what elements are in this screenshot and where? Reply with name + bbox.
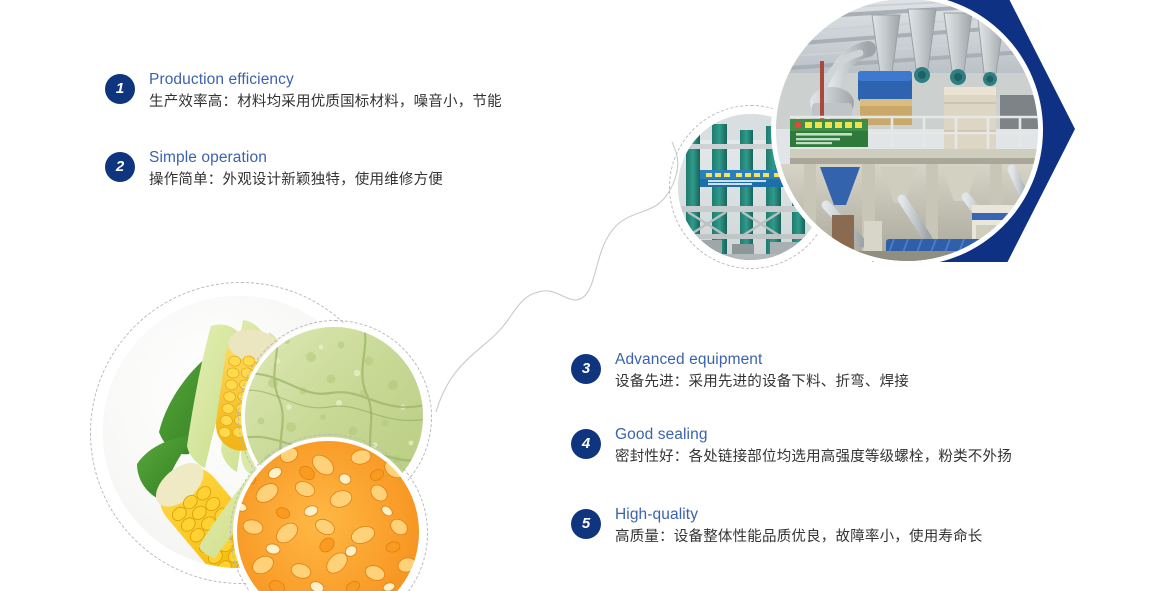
feature-title-en-2: Simple operation [149, 148, 443, 168]
feature-text-4: Good sealing 密封性好：各处链接部位均选用高强度等级螺栓，粉类不外扬 [615, 425, 1012, 468]
feature-text-1: Production efficiency 生产效率高：材料均采用优质国标材料，… [149, 70, 502, 113]
feature-text-5: High-quality 高质量：设备整体性能品质优良，故障率小，使用寿命长 [615, 505, 983, 548]
corn-flour-milling-plant-photo [776, 0, 1038, 261]
produce-photo-cluster [90, 282, 490, 591]
feature-badge-5: 5 [571, 509, 601, 539]
feature-infographic: 1 Production efficiency 生产效率高：材料均采用优质国标材… [0, 0, 1154, 591]
feature-title-cn-3: 设备先进：采用先进的设备下料、折弯、焊接 [615, 371, 909, 393]
feature-title-en-1: Production efficiency [149, 70, 502, 90]
feature-badge-2: 2 [105, 152, 135, 182]
plant-photo-cluster [660, 0, 1154, 286]
feature-title-en-4: Good sealing [615, 425, 1012, 445]
feature-title-cn-1: 生产效率高：材料均采用优质国标材料，噪音小，节能 [149, 91, 502, 113]
feature-item-5: 5 High-quality 高质量：设备整体性能品质优良，故障率小，使用寿命长 [571, 505, 983, 548]
feature-item-3: 3 Advanced equipment 设备先进：采用先进的设备下料、折弯、焊… [571, 350, 909, 393]
feature-title-en-3: Advanced equipment [615, 350, 909, 370]
feature-text-2: Simple operation 操作简单：外观设计新颖独特，使用维修方便 [149, 148, 443, 191]
feature-title-cn-4: 密封性好：各处链接部位均选用高强度等级螺栓，粉类不外扬 [615, 446, 1012, 468]
feature-badge-1: 1 [105, 74, 135, 104]
feature-item-1: 1 Production efficiency 生产效率高：材料均采用优质国标材… [105, 70, 502, 113]
feature-badge-4: 4 [571, 429, 601, 459]
feature-title-en-5: High-quality [615, 505, 983, 525]
feature-badge-3: 3 [571, 354, 601, 384]
feature-title-cn-5: 高质量：设备整体性能品质优良，故障率小，使用寿命长 [615, 526, 983, 548]
feature-item-2: 2 Simple operation 操作简单：外观设计新颖独特，使用维修方便 [105, 148, 443, 191]
feature-title-cn-2: 操作简单：外观设计新颖独特，使用维修方便 [149, 169, 443, 191]
feature-item-4: 4 Good sealing 密封性好：各处链接部位均选用高强度等级螺栓，粉类不… [571, 425, 1012, 468]
feature-text-3: Advanced equipment 设备先进：采用先进的设备下料、折弯、焊接 [615, 350, 909, 393]
